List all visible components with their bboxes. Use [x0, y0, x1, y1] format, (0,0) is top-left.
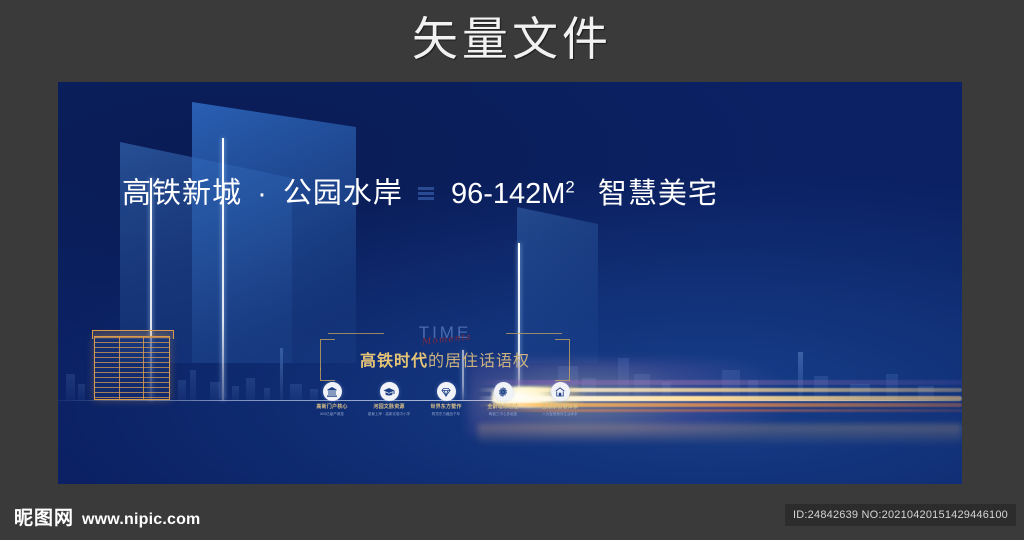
headline-left: 高铁新城 — [122, 178, 242, 210]
poster-background-glow — [58, 82, 962, 484]
graduation-cap-icon — [380, 382, 399, 401]
gear-icon — [494, 382, 513, 401]
government-building-icon — [323, 382, 342, 401]
feature-subtitle: 筑境东方藏品千年 — [421, 411, 471, 417]
ghost-tower — [662, 382, 671, 400]
poster-headline: 高铁新城 · 公园水岸 96-142M2 智慧美宅 — [122, 170, 718, 211]
headline-area: 96-142M2 — [451, 178, 575, 210]
badge-rule-right — [506, 333, 562, 334]
ghost-tower — [66, 374, 75, 400]
ghost-tower — [264, 388, 270, 400]
ghost-tower — [618, 358, 629, 400]
ghost-tower — [78, 384, 85, 400]
grid-brick-icon — [418, 187, 434, 201]
ghost-tower — [210, 382, 220, 400]
headline-middot: · — [251, 178, 274, 210]
gold-residential-building — [94, 336, 170, 400]
slogan-badge: TIME Moments 高铁时代的居住话语权 — [320, 322, 570, 379]
ghost-tower — [290, 384, 302, 400]
badge-corner-bottom-left — [320, 368, 335, 381]
ghost-tower — [634, 374, 650, 400]
ghost-tower — [748, 380, 758, 400]
ghost-tower — [918, 386, 934, 400]
trail-reflection — [478, 424, 962, 446]
diamond-icon — [437, 382, 456, 401]
building-mullion — [119, 337, 120, 399]
headline-area-superscript: 2 — [565, 177, 574, 196]
screenshot-stage: 矢量文件 — [0, 0, 1024, 540]
badge-time-row: TIME Moments — [320, 322, 570, 348]
badge-corner-top-right — [555, 339, 570, 370]
feature-title: 河园文脉资源 — [363, 404, 415, 411]
ghost-tower — [814, 376, 828, 400]
feature-title: 全龄理想居住 — [477, 404, 529, 411]
ghost-tower — [190, 370, 196, 400]
feature-item: 世界东方墅作 筑境东方藏品千年 — [420, 382, 472, 417]
feature-subtitle: 600亿级产城投 — [307, 411, 357, 417]
feature-title: 世界东方墅作 — [420, 404, 472, 411]
feature-item: 全龄理想居住 两链三中心多组团 — [477, 382, 529, 417]
feature-item: 高新门户核心 600亿级产城投 — [306, 382, 358, 417]
ghost-tower — [178, 380, 186, 400]
ghost-tower — [798, 352, 803, 400]
badge-slogan-strong: 高铁时代 — [360, 353, 428, 370]
building-roof-cap — [92, 330, 174, 339]
feature-title: 生态家智慧体系 — [534, 404, 586, 411]
building-mullion — [143, 337, 144, 399]
feature-subtitle: 两链三中心多组团 — [478, 411, 528, 417]
ghost-tower — [886, 374, 898, 400]
ghost-tower — [722, 370, 740, 400]
site-logo[interactable]: 昵图网 www.nipic.com — [14, 507, 200, 530]
page-title: 矢量文件 — [0, 8, 1024, 70]
feature-subtitle: 八大智慧服务生活体系 — [535, 411, 585, 417]
badge-corner-top-left — [320, 339, 335, 370]
badge-corner-bottom-right — [555, 368, 570, 381]
feature-subtitle: 豪景上岸 · 高新实验中小学 — [364, 411, 414, 417]
smart-home-icon — [551, 382, 570, 401]
headline-tail: 智慧美宅 — [598, 178, 718, 210]
site-logo-url: www.nipic.com — [82, 510, 200, 530]
poster-canvas: 高铁新城 · 公园水岸 96-142M2 智慧美宅 TIME Moments 高… — [58, 82, 962, 484]
feature-row: 高新门户核心 600亿级产城投 河园文脉资源 豪景上岸 · 高新实验中小学 — [306, 382, 586, 417]
angled-slab-group — [58, 82, 962, 484]
feature-item: 生态家智慧体系 八大智慧服务生活体系 — [534, 382, 586, 417]
badge-slogan: 高铁时代的居住话语权 — [320, 349, 570, 375]
badge-frame: 高铁时代的居住话语权 — [320, 349, 570, 379]
site-logo-cn: 昵图网 — [14, 507, 74, 529]
cityscape-scene — [58, 82, 962, 484]
ghost-tower — [232, 386, 239, 400]
ghost-tower — [850, 384, 870, 400]
headline-middle: 公园水岸 — [283, 178, 403, 210]
feature-item: 河园文脉资源 豪景上岸 · 高新实验中小学 — [363, 382, 415, 417]
badge-slogan-light: 的居住话语权 — [428, 353, 530, 370]
ghost-spire — [280, 348, 283, 400]
badge-rule-left — [328, 333, 384, 334]
asset-id-badge: ID:24842639 NO:20210420151429446100 — [785, 504, 1016, 526]
ghost-tower — [246, 378, 255, 400]
feature-title: 高新门户核心 — [306, 404, 358, 411]
slab-edge-line — [150, 178, 152, 400]
